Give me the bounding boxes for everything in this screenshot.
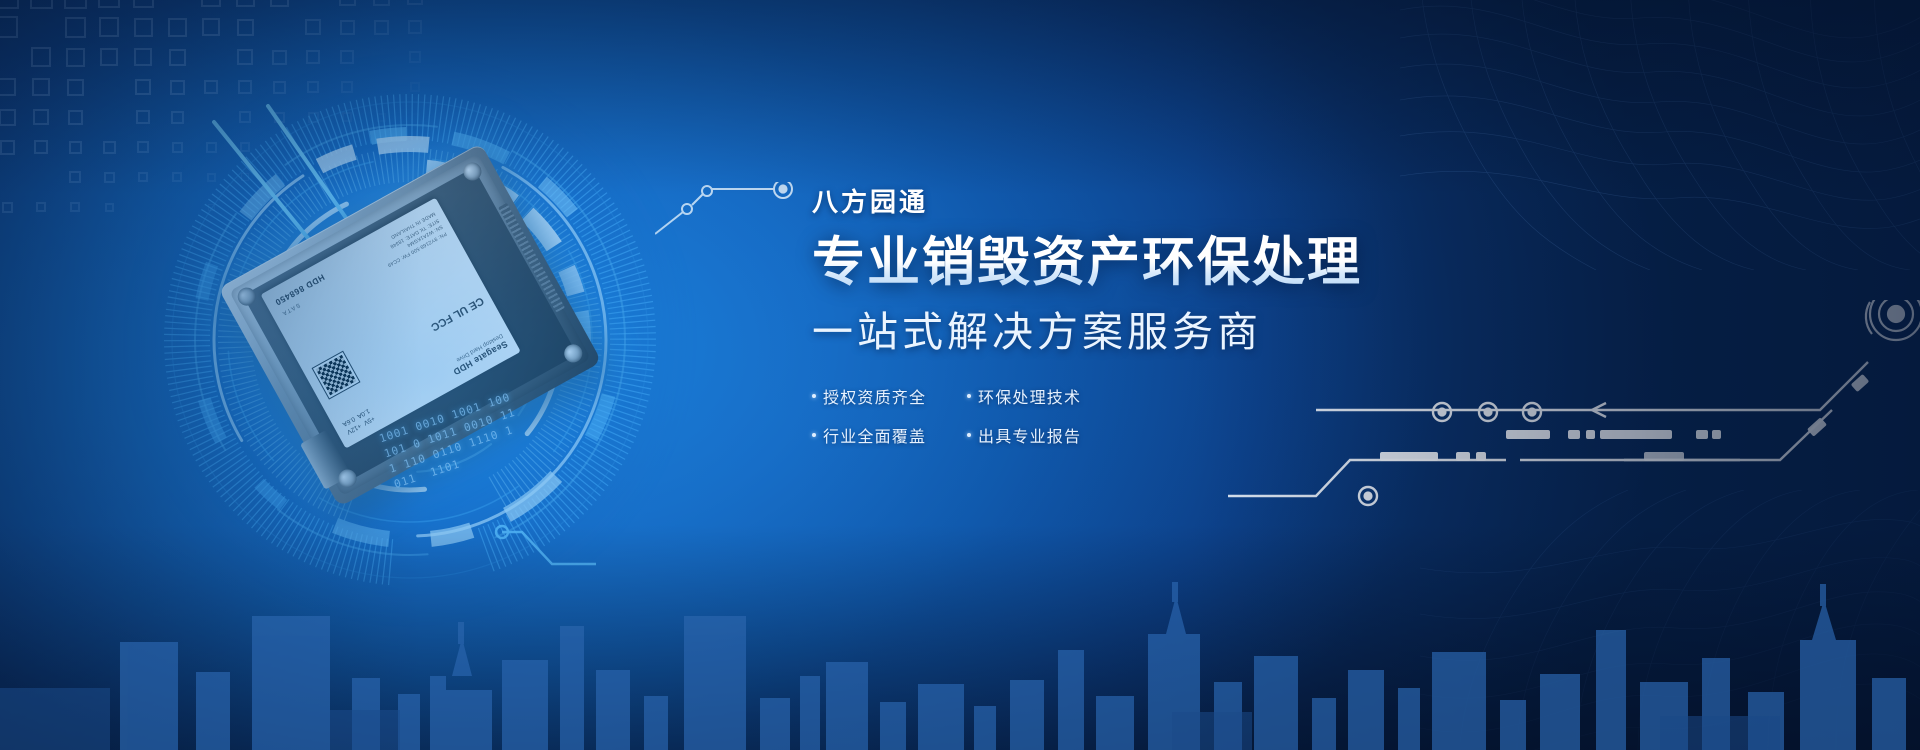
headline: 专业销毁资产环保处理	[812, 233, 1532, 292]
feature-item-1: 授权资质齐全	[812, 384, 947, 408]
subheadline: 一站式解决方案服务商	[812, 298, 1532, 358]
feature-list: 授权资质齐全环保处理技术行业全面覆盖出具专业报告	[812, 384, 1142, 447]
feature-label: 环保处理技术	[978, 384, 1081, 408]
hero-banner: Seagate HDD Desktop Hard Drive +5V +12V …	[0, 0, 1920, 750]
feature-label: 授权资质齐全	[823, 384, 926, 408]
feature-item-3: 行业全面覆盖	[812, 423, 947, 447]
bullet-dot-icon	[812, 433, 816, 437]
feature-item-4: 出具专业报告	[967, 423, 1142, 447]
hero-copy: 八方园通 专业销毁资产环保处理 一站式解决方案服务商 授权资质齐全环保处理技术行…	[812, 182, 1532, 447]
feature-item-2: 环保处理技术	[967, 384, 1142, 408]
bullet-dot-icon	[812, 394, 816, 398]
bullet-dot-icon	[967, 394, 971, 398]
brand-name: 八方园通	[812, 182, 1532, 219]
city-skyline-icon	[0, 530, 1920, 750]
bullet-dot-icon	[967, 433, 971, 437]
feature-label: 行业全面覆盖	[823, 423, 926, 447]
feature-label: 出具专业报告	[978, 423, 1081, 447]
